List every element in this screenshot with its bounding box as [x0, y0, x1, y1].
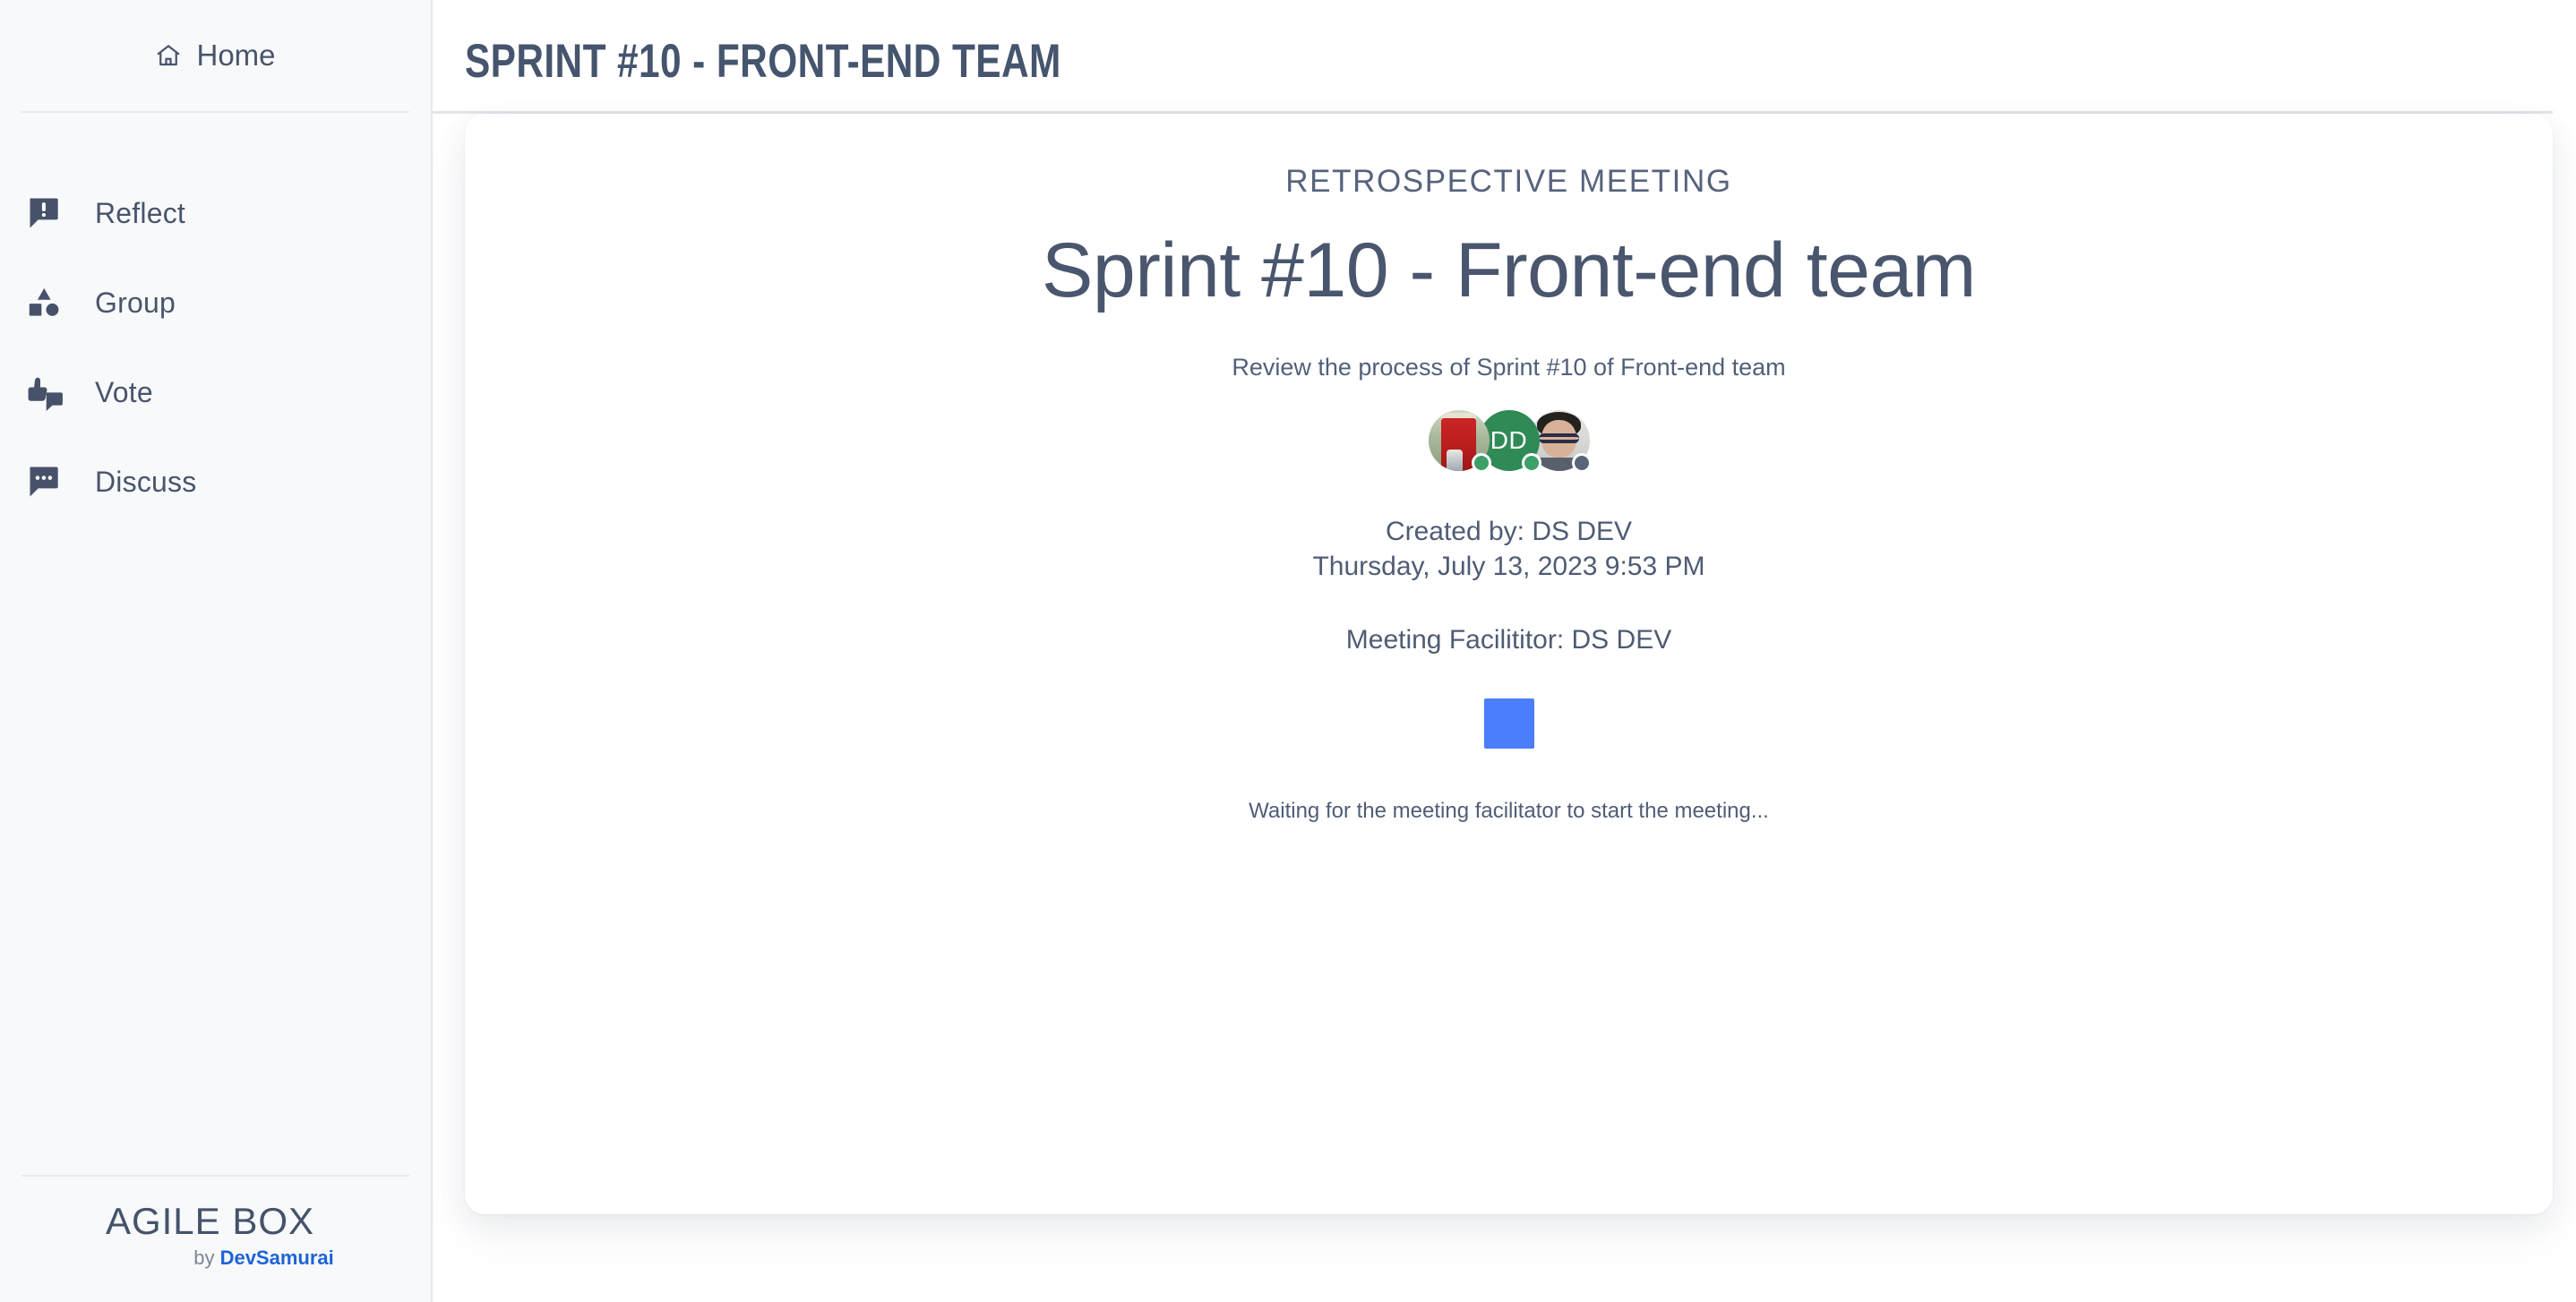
brand-by-prefix: by	[193, 1246, 219, 1269]
brand-byline: by DevSamurai	[0, 1246, 420, 1270]
app-root: Home Reflect	[0, 0, 2576, 1302]
sidebar-item-group-label: Group	[95, 287, 176, 320]
meeting-facilitator: Meeting Facilititor: DS DEV	[465, 625, 2553, 655]
waiting-status-text: Waiting for the meeting facilitator to s…	[465, 799, 2553, 824]
loading-spinner-wrapper	[465, 698, 2553, 749]
status-badge	[1572, 453, 1592, 473]
meeting-description: Review the process of Sprint #10 of Fron…	[465, 354, 2553, 381]
brand-name: AGILE BOX	[0, 1202, 420, 1241]
page-title: SPRINT #10 - FRONT-END TEAM	[465, 34, 2154, 89]
created-by: Created by: DS DEV	[465, 514, 2553, 549]
sidebar: Home Reflect	[0, 0, 433, 1302]
discuss-icon	[25, 460, 70, 503]
reflect-icon	[25, 192, 70, 235]
group-icon	[25, 281, 70, 324]
sidebar-item-discuss[interactable]: Discuss	[0, 437, 431, 527]
loading-spinner-icon	[1484, 698, 1534, 749]
vote-icon	[25, 371, 70, 414]
main-content: SPRINT #10 - FRONT-END TEAM RETROSPECTIV…	[433, 0, 2576, 1302]
sidebar-item-vote[interactable]: Vote	[0, 347, 431, 437]
created-at: Thursday, July 13, 2023 9:53 PM	[465, 549, 2553, 584]
sidebar-item-reflect-label: Reflect	[95, 197, 185, 230]
status-badge	[1472, 453, 1491, 473]
sidebar-footer-divider	[21, 1175, 409, 1177]
brand-link[interactable]: DevSamurai	[220, 1246, 334, 1269]
created-info: Created by: DS DEV Thursday, July 13, 20…	[465, 514, 2553, 584]
brand-logo: AGILE BOX by DevSamurai	[0, 1202, 431, 1270]
sidebar-item-group[interactable]: Group	[0, 258, 431, 347]
sidebar-item-home[interactable]: Home	[0, 0, 431, 111]
sidebar-item-vote-label: Vote	[95, 376, 153, 409]
sidebar-item-home-label: Home	[196, 39, 275, 73]
participant-avatar-group: DD	[465, 410, 2553, 471]
card-wrapper: RETROSPECTIVE MEETING Sprint #10 - Front…	[433, 114, 2576, 1302]
sidebar-item-reflect[interactable]: Reflect	[0, 168, 431, 258]
status-badge	[1522, 453, 1541, 473]
home-icon	[155, 42, 182, 69]
sidebar-item-discuss-label: Discuss	[95, 466, 196, 499]
meeting-card: RETROSPECTIVE MEETING Sprint #10 - Front…	[465, 114, 2553, 1214]
avatar[interactable]	[1429, 410, 1490, 471]
sidebar-footer: AGILE BOX by DevSamurai	[0, 1175, 431, 1302]
meeting-eyebrow: RETROSPECTIVE MEETING	[465, 164, 2553, 200]
page-header: SPRINT #10 - FRONT-END TEAM	[433, 0, 2576, 89]
meeting-title: Sprint #10 - Front-end team	[465, 230, 2553, 311]
sidebar-nav: Reflect Group	[0, 113, 431, 1175]
